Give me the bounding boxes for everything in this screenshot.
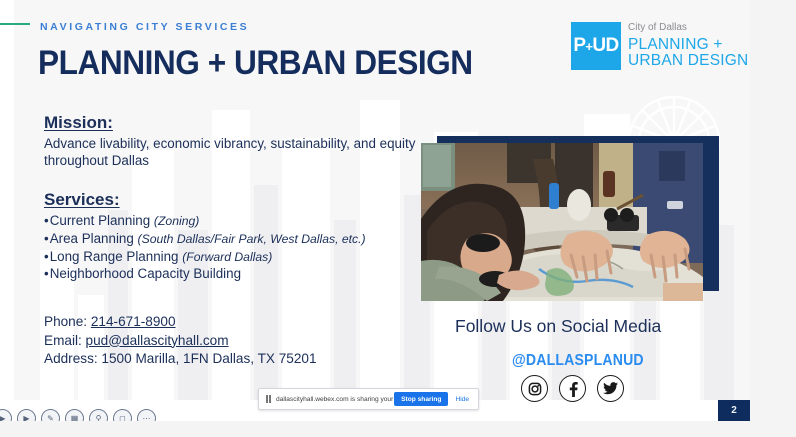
share-message: dallascityhall.webex.com is sharing your…	[276, 396, 394, 403]
services-block: Services: Current Planning (Zoning) Area…	[44, 190, 434, 283]
pud-logo-mark: P+UD	[571, 22, 621, 70]
twitter-icon[interactable]	[597, 375, 624, 402]
play-icon[interactable]: ▶	[0, 409, 12, 421]
deck-eyebrow: NAVIGATING CITY SERVICES	[40, 21, 249, 33]
pause-icon[interactable]	[264, 395, 273, 404]
list-item: Long Range Planning (Forward Dallas)	[44, 248, 434, 266]
services-heading: Services:	[44, 190, 434, 210]
presentation-slide: NAVIGATING CITY SERVICES PLANNING + URBA…	[0, 0, 750, 421]
page-title: PLANNING + URBAN DESIGN	[38, 44, 473, 83]
service-detail: (South Dallas/Fair Park, West Dallas, et…	[138, 232, 366, 246]
email-line: Email: pud@dallascityhall.com	[44, 332, 317, 351]
screen-capture: NAVIGATING CITY SERVICES PLANNING + URBA…	[0, 0, 796, 437]
screen-share-notification[interactable]: dallascityhall.webex.com is sharing your…	[258, 388, 479, 410]
logo-mark-plus: +	[585, 39, 592, 54]
instagram-icon[interactable]	[521, 375, 548, 402]
list-item: Area Planning (South Dallas/Fair Park, W…	[44, 230, 434, 248]
address-label: Address:	[44, 351, 101, 366]
address-line: Address: 1500 Marilla, 1FN Dallas, TX 75…	[44, 350, 317, 369]
logo-line-1: PLANNING +	[628, 37, 748, 54]
social-icon-row	[521, 375, 624, 402]
mission-block: Mission: Advance livability, economic vi…	[44, 113, 424, 169]
presenter-toolbar[interactable]: ▶ ▶ ✎ ▦ ⚲ ◻ ⋯	[0, 409, 156, 421]
service-detail: (Zoning)	[154, 214, 199, 228]
right-gutter	[750, 0, 796, 437]
mission-heading: Mission:	[44, 113, 424, 133]
phone-label: Phone:	[44, 314, 91, 329]
logo-line-2: URBAN DESIGN	[628, 53, 748, 70]
accent-rule	[0, 23, 30, 25]
phone-line: Phone: 214-671-8900	[44, 313, 317, 332]
phone-value[interactable]: 214-671-8900	[91, 314, 176, 329]
social-handle: @DALLASPLANUD	[512, 352, 644, 370]
service-label: Long Range Planning	[50, 249, 183, 264]
stop-sharing-button[interactable]: Stop sharing	[394, 392, 448, 406]
more-icon[interactable]: ⋯	[137, 409, 156, 421]
service-label: Area Planning	[50, 231, 138, 246]
address-value: 1500 Marilla, 1FN Dallas, TX 75201	[101, 351, 316, 366]
email-value[interactable]: pud@dallascityhall.com	[86, 333, 229, 348]
contact-block: Phone: 214-671-8900 Email: pud@dallascit…	[44, 313, 317, 369]
logo-city-label: City of Dallas	[628, 23, 748, 33]
workshop-photo	[421, 143, 703, 301]
facebook-icon[interactable]	[559, 375, 586, 402]
grid-icon[interactable]: ▦	[65, 409, 84, 421]
minus-icon[interactable]: ◻	[113, 409, 132, 421]
hide-button[interactable]: Hide	[448, 396, 474, 403]
list-item: Current Planning (Zoning)	[44, 212, 434, 230]
social-heading: Follow Us on Social Media	[455, 316, 661, 337]
service-label: Current Planning	[50, 213, 154, 228]
service-detail: (Forward Dallas)	[182, 250, 272, 264]
pen-icon[interactable]: ✎	[41, 409, 60, 421]
mission-text: Advance livability, economic vibrancy, s…	[44, 135, 424, 169]
service-label: Neighborhood Capacity Building	[50, 266, 241, 281]
pud-logo: P+UD City of Dallas PLANNING + URBAN DES…	[571, 22, 748, 70]
list-item: Neighborhood Capacity Building	[44, 265, 434, 283]
pud-logo-text: City of Dallas PLANNING + URBAN DESIGN	[628, 23, 748, 70]
slide-number: 2	[718, 400, 750, 421]
zoom-icon[interactable]: ⚲	[89, 409, 108, 421]
logo-mark-p: P	[573, 35, 585, 57]
email-label: Email:	[44, 333, 86, 348]
services-list: Current Planning (Zoning) Area Planning …	[44, 212, 434, 283]
logo-mark-ud: UD	[592, 35, 618, 57]
play-icon[interactable]: ▶	[17, 409, 36, 421]
